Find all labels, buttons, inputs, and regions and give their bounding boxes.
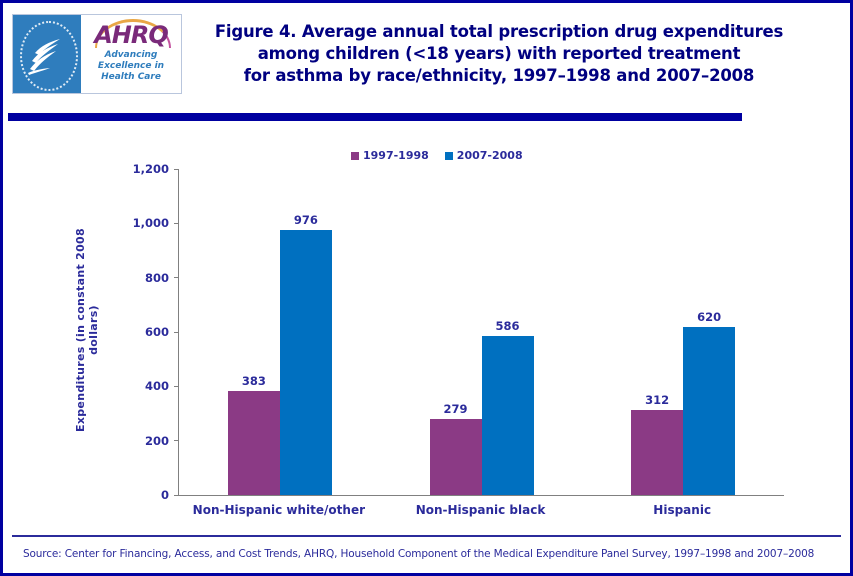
ahrq-tagline-line-1: Advancing [81, 50, 181, 61]
agency-logo: AHRQ Advancing Excellence in Health Care [12, 14, 182, 94]
legend-swatch-icon [445, 152, 453, 160]
bar-value-label: 279 [443, 402, 467, 416]
bar-column: 383 [228, 391, 280, 495]
hhs-bird-icon [26, 31, 68, 77]
footer-divider [12, 535, 841, 537]
bar-group: 312620 [582, 169, 784, 495]
y-axis-tick: 600 [122, 325, 179, 339]
x-axis-category-label: Non-Hispanic white/other [178, 503, 380, 517]
bar-value-label: 620 [697, 310, 721, 324]
y-axis-tick-label: 200 [122, 434, 174, 448]
bar[interactable]: 279 [430, 419, 482, 495]
bar-groups: 383976279586312620 [179, 169, 784, 495]
plot-area: 383976279586312620 02004006008001,0001,2… [178, 169, 784, 496]
ahrq-tagline-line-3: Health Care [81, 72, 181, 83]
bar[interactable]: 620 [683, 327, 735, 495]
ahrq-tagline-line-2: Excellence in [81, 61, 181, 72]
bar-chart: 1997-19982007-2008 Expenditures (in cons… [3, 127, 850, 527]
hhs-seal-icon [13, 15, 81, 93]
y-axis-tick: 1,000 [122, 216, 179, 230]
bar[interactable]: 976 [280, 230, 332, 495]
x-axis-category-label: Hispanic [581, 503, 783, 517]
bar[interactable]: 312 [631, 410, 683, 495]
y-axis-tick: 400 [122, 379, 179, 393]
bar-column: 976 [280, 230, 332, 495]
bar-value-label: 312 [645, 393, 669, 407]
bar-value-label: 586 [495, 319, 519, 333]
bar-column: 620 [683, 327, 735, 495]
source-note: Source: Center for Financing, Access, an… [23, 548, 843, 560]
y-axis-title: Expenditures (in constant 2008 dollars) [74, 210, 100, 450]
y-axis-tick-mark [174, 332, 179, 333]
y-axis-tick-mark [174, 495, 179, 496]
figure-title-line-1: Figure 4. Average annual total prescript… [189, 21, 809, 43]
legend-swatch-icon [351, 152, 359, 160]
y-axis-tick: 200 [122, 434, 179, 448]
bar-value-label: 383 [242, 374, 266, 388]
bar-column: 586 [482, 336, 534, 495]
figure-title-line-2: among children (<18 years) with reported… [189, 43, 809, 65]
y-axis-tick-mark [174, 386, 179, 387]
bar-pair: 279586 [430, 336, 534, 495]
legend-item-2[interactable]: 2007-2008 [445, 149, 523, 162]
y-axis-tick-mark [174, 223, 179, 224]
legend-item-1[interactable]: 1997-1998 [351, 149, 429, 162]
y-axis-tick-mark [174, 440, 179, 441]
y-axis-tick: 800 [122, 271, 179, 285]
header-divider [8, 113, 742, 121]
chart-legend: 1997-19982007-2008 [351, 149, 523, 162]
y-axis-tick: 0 [122, 488, 179, 502]
ahrq-logo: AHRQ Advancing Excellence in Health Care [81, 15, 181, 93]
figure-page: AHRQ Advancing Excellence in Health Care… [0, 0, 853, 576]
ahrq-tagline: Advancing Excellence in Health Care [81, 50, 181, 83]
y-axis-tick-label: 600 [122, 325, 174, 339]
figure-title-line-3: for asthma by race/ethnicity, 1997–1998 … [189, 65, 809, 87]
bar-pair: 383976 [228, 230, 332, 495]
legend-label: 2007-2008 [457, 149, 523, 162]
bar-group: 383976 [179, 169, 381, 495]
x-axis-labels: Non-Hispanic white/otherNon-Hispanic bla… [178, 503, 783, 517]
y-axis-tick-label: 1,200 [122, 162, 174, 176]
bar-pair: 312620 [631, 327, 735, 495]
bar-group: 279586 [381, 169, 583, 495]
y-axis-tick-label: 800 [122, 271, 174, 285]
ahrq-wordmark: AHRQ [81, 23, 181, 47]
bar-value-label: 976 [294, 213, 318, 227]
bar-column: 279 [430, 419, 482, 495]
legend-label: 1997-1998 [363, 149, 429, 162]
bar[interactable]: 383 [228, 391, 280, 495]
figure-title: Figure 4. Average annual total prescript… [189, 21, 809, 87]
y-axis-tick-label: 0 [122, 488, 174, 502]
header: AHRQ Advancing Excellence in Health Care… [3, 3, 850, 107]
y-axis-tick-mark [174, 169, 179, 170]
x-axis-category-label: Non-Hispanic black [380, 503, 582, 517]
bar[interactable]: 586 [482, 336, 534, 495]
y-axis-tick-label: 1,000 [122, 216, 174, 230]
y-axis-tick-mark [174, 277, 179, 278]
y-axis-tick-label: 400 [122, 379, 174, 393]
bar-column: 312 [631, 410, 683, 495]
y-axis-tick: 1,200 [122, 162, 179, 176]
